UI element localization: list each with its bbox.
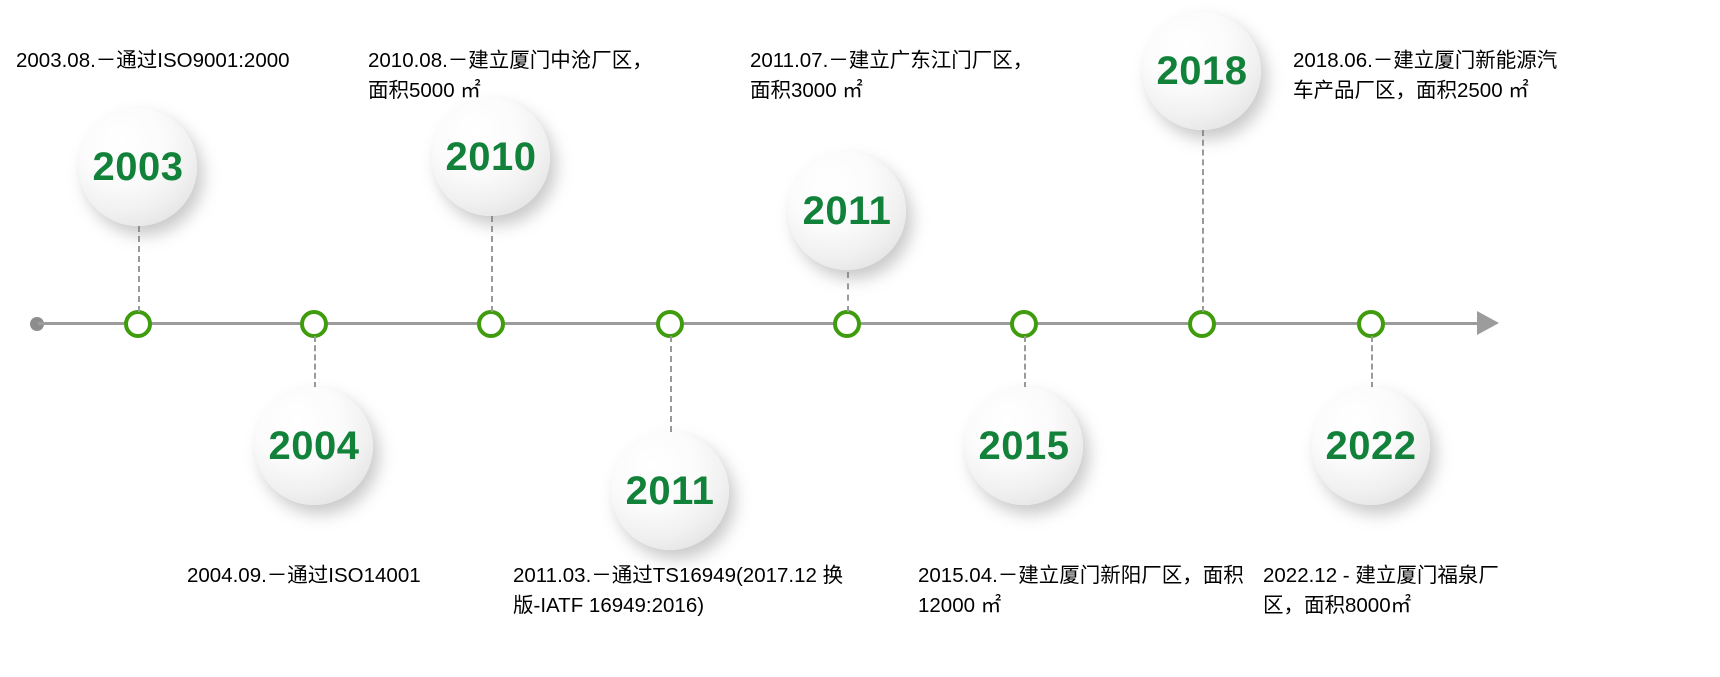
year-bubble-label: 2011: [626, 471, 715, 511]
caption-2022: 2022.12 - 建立厦门福泉厂区，面积8000㎡: [1263, 561, 1523, 620]
year-bubble-label: 2011: [803, 191, 892, 231]
timeline-node-2011-07[interactable]: [833, 310, 861, 338]
caption-2011-03: 2011.03.－通过TS16949(2017.12 换版-IATF 16949…: [513, 561, 853, 620]
year-bubble-2011-03[interactable]: 2011: [611, 432, 729, 550]
timeline-arrow-icon: [1477, 311, 1499, 335]
year-bubble-label: 2004: [269, 426, 360, 466]
timeline-axis: [38, 322, 1493, 325]
caption-2010: 2010.08.－建立厦门中沧厂区，面积5000 ㎡: [368, 46, 653, 105]
year-bubble-label: 2022: [1326, 426, 1417, 466]
timeline-node-2022[interactable]: [1357, 310, 1385, 338]
timeline-node-2011-03[interactable]: [656, 310, 684, 338]
timeline-node-2015[interactable]: [1010, 310, 1038, 338]
caption-2003: 2003.08.－通过ISO9001:2000: [16, 46, 316, 76]
caption-2011-07: 2011.07.－建立广东江门厂区，面积3000 ㎡: [750, 46, 1050, 105]
year-bubble-2022[interactable]: 2022: [1312, 387, 1430, 505]
year-bubble-2003[interactable]: 2003: [79, 108, 197, 226]
caption-2004: 2004.09.－通过ISO14001: [187, 561, 507, 591]
connector-2011-07: [847, 272, 849, 312]
connector-2022: [1371, 336, 1373, 388]
connector-2010: [491, 216, 493, 312]
connector-2015: [1024, 336, 1026, 388]
timeline-node-2018[interactable]: [1188, 310, 1216, 338]
connector-2018: [1202, 130, 1204, 312]
year-bubble-2011-07[interactable]: 2011: [788, 152, 906, 270]
timeline-node-2010[interactable]: [477, 310, 505, 338]
connector-2011-03: [670, 336, 672, 432]
year-bubble-label: 2015: [979, 426, 1070, 466]
connector-2003: [138, 226, 140, 312]
caption-2015: 2015.04.－建立厦门新阳厂区，面积12000 ㎡: [918, 561, 1248, 620]
connector-2004: [314, 336, 316, 388]
year-bubble-2018[interactable]: 2018: [1143, 12, 1261, 130]
year-bubble-2015[interactable]: 2015: [965, 387, 1083, 505]
year-bubble-label: 2010: [446, 137, 537, 177]
timeline-node-2003[interactable]: [124, 310, 152, 338]
timeline-diagram: 2003 2003.08.－通过ISO9001:2000 2004 2004.0…: [0, 0, 1720, 677]
year-bubble-label: 2003: [93, 147, 184, 187]
year-bubble-2004[interactable]: 2004: [255, 387, 373, 505]
year-bubble-2010[interactable]: 2010: [432, 98, 550, 216]
timeline-node-2004[interactable]: [300, 310, 328, 338]
caption-2018: 2018.06.－建立厦门新能源汽车产品厂区，面积2500 ㎡: [1293, 46, 1563, 105]
year-bubble-label: 2018: [1157, 51, 1248, 91]
